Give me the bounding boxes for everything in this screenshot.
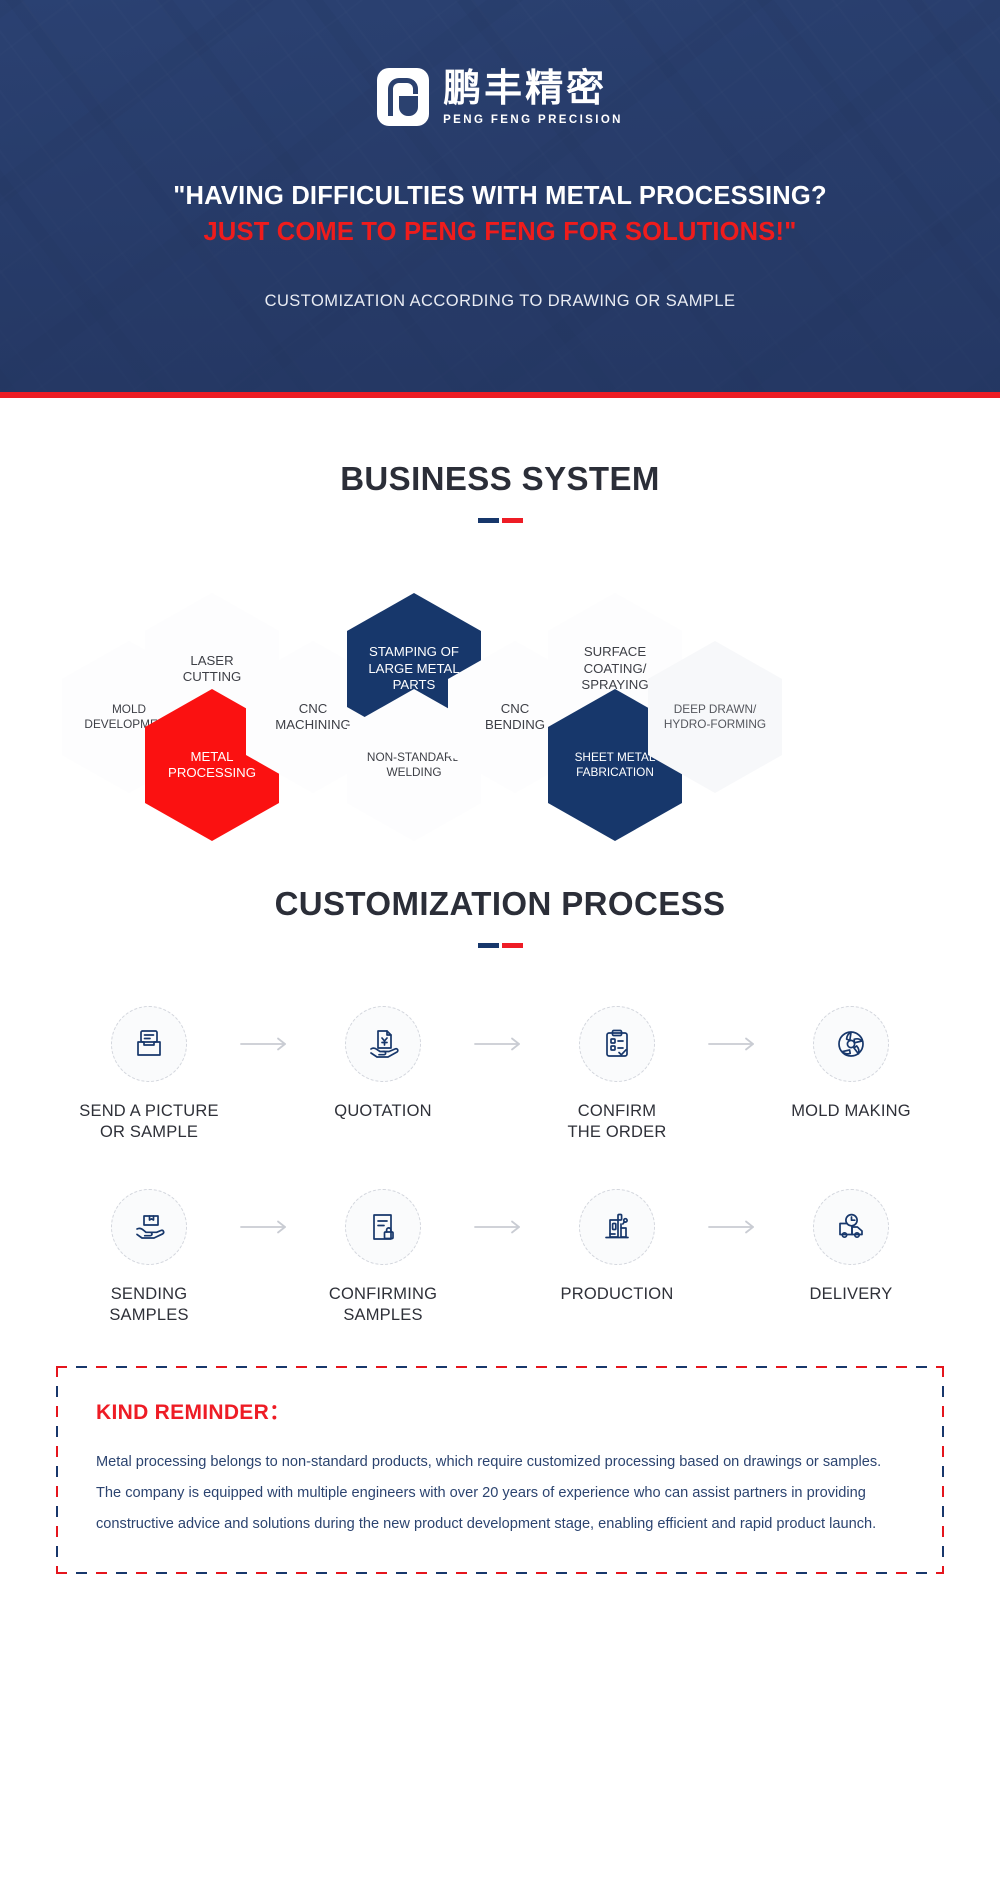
mold-disc-icon: [813, 1006, 889, 1082]
process-step-label: QUOTATION: [295, 1101, 471, 1122]
hero-headline-line2: JUST COME TO PENG FENG FOR SOLUTIONS!": [0, 214, 1000, 250]
hex-label-line: CUTTING: [183, 669, 242, 686]
process-step-send-a-picture-or-sample[interactable]: SEND A PICTUREOR SAMPLE: [61, 1006, 237, 1143]
process-step-production[interactable]: PRODUCTION: [529, 1189, 705, 1305]
inbox-document-icon: [111, 1006, 187, 1082]
logo-english-name: PENG FENG PRECISION: [443, 114, 623, 126]
kind-reminder-box: KIND REMINDER： Metal processing belongs …: [56, 1366, 944, 1574]
arrow-right-icon: [471, 1219, 529, 1235]
arrow-right-icon: [471, 1036, 529, 1052]
process-step-confirm-the-order[interactable]: CONFIRMTHE ORDER: [529, 1006, 705, 1143]
process-title-underline: [0, 943, 1000, 948]
hex-label-line: METAL: [168, 749, 256, 766]
hero-headline: "HAVING DIFFICULTIES WITH METAL PROCESSI…: [0, 178, 1000, 250]
hex-label-line: PROCESSING: [168, 765, 256, 782]
process-row-second: SENDINGSAMPLES CONFIRMINGSAMPLES PRODUCT…: [0, 1189, 1000, 1326]
hex-label-line: NON-STANDARD: [367, 750, 461, 765]
underline-red: [502, 518, 523, 523]
hex-label-line: LASER: [183, 653, 242, 670]
business-hex-cluster: MOLDDEVELOPMENTLASERCUTTINGMETALPROCESSI…: [0, 575, 1000, 835]
reminder-title: KIND REMINDER：: [96, 1396, 904, 1426]
hero-banner: 鹏丰精密 PENG FENG PRECISION "HAVING DIFFICU…: [0, 0, 1000, 392]
hex-label-line: LARGE METAL: [368, 661, 459, 678]
process-step-label: DELIVERY: [763, 1284, 939, 1305]
reminder-border-right: [942, 1366, 944, 1574]
document-lock-icon: [345, 1189, 421, 1265]
hex-label-line: DEEP DRAWN/: [664, 702, 766, 717]
hand-box-icon: [111, 1189, 187, 1265]
business-system-title: BUSINESS SYSTEM: [0, 460, 1000, 498]
clipboard-check-icon: [579, 1006, 655, 1082]
process-row-first: SEND A PICTUREOR SAMPLE QUOTATION CONFIR…: [0, 1006, 1000, 1143]
hex-label-line: BENDING: [485, 717, 545, 734]
delivery-truck-clock-icon: [813, 1189, 889, 1265]
factory-machine-icon: [579, 1189, 655, 1265]
reminder-border-top: [56, 1366, 944, 1368]
hex-label-line: WELDING: [367, 765, 461, 780]
process-step-label: CONFIRMINGSAMPLES: [295, 1284, 471, 1326]
hex-label-line: COATING/: [581, 661, 648, 678]
hex-label-line: CNC: [485, 701, 545, 718]
customization-process-title: CUSTOMIZATION PROCESS: [0, 885, 1000, 923]
hero-headline-line1: "HAVING DIFFICULTIES WITH METAL PROCESSI…: [173, 182, 826, 210]
pf-monogram-icon: [377, 68, 429, 126]
underline-navy: [478, 518, 499, 523]
arrow-right-icon: [237, 1036, 295, 1052]
company-logo: 鹏丰精密 PENG FENG PRECISION: [0, 0, 1000, 126]
arrow-right-icon: [237, 1219, 295, 1235]
process-step-delivery[interactable]: DELIVERY: [763, 1189, 939, 1305]
process-step-confirming-samples[interactable]: CONFIRMINGSAMPLES: [295, 1189, 471, 1326]
process-step-label: CONFIRMTHE ORDER: [529, 1101, 705, 1143]
hex-label-line: MACHINING: [275, 717, 350, 734]
hex-label-line: SHEET METAL: [575, 750, 656, 765]
process-step-label: SENDINGSAMPLES: [61, 1284, 237, 1326]
underline-navy: [478, 943, 499, 948]
arrow-right-icon: [705, 1219, 763, 1235]
hex-label-line: STAMPING OF: [368, 644, 459, 661]
hex-label-line: HYDRO-FORMING: [664, 717, 766, 732]
reminder-border-left: [56, 1366, 58, 1574]
process-step-quotation[interactable]: QUOTATION: [295, 1006, 471, 1122]
process-step-mold-making[interactable]: MOLD MAKING: [763, 1006, 939, 1122]
process-step-label: PRODUCTION: [529, 1284, 705, 1305]
hand-invoice-yuan-icon: [345, 1006, 421, 1082]
hex-label-line: FABRICATION: [575, 765, 656, 780]
hex-label-line: CNC: [275, 701, 350, 718]
hex-label-line: SURFACE: [581, 644, 648, 661]
process-step-label: MOLD MAKING: [763, 1101, 939, 1122]
reminder-border-bottom: [56, 1572, 944, 1574]
underline-red: [502, 943, 523, 948]
process-step-sending-samples[interactable]: SENDINGSAMPLES: [61, 1189, 237, 1326]
process-step-label: SEND A PICTUREOR SAMPLE: [61, 1101, 237, 1143]
hero-subtitle: CUSTOMIZATION ACCORDING TO DRAWING OR SA…: [0, 292, 1000, 311]
business-title-underline: [0, 518, 1000, 523]
reminder-body: Metal processing belongs to non-standard…: [96, 1447, 904, 1540]
arrow-right-icon: [705, 1036, 763, 1052]
logo-chinese-name: 鹏丰精密: [443, 69, 623, 107]
